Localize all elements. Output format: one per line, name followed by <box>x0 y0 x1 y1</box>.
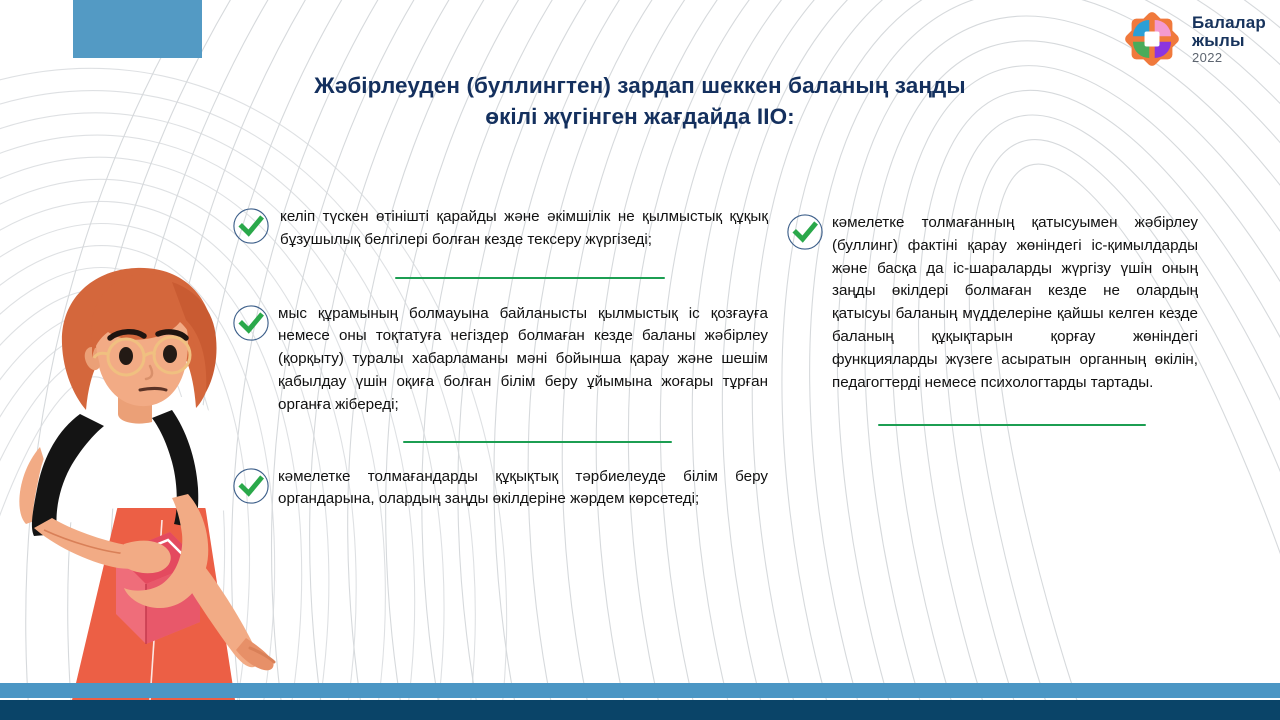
bullet-text: мыс құрамының болмауына байланысты қылмы… <box>278 303 768 417</box>
bullet-item: кәмелетке толмағандарды құқықтық тәрбиел… <box>232 466 768 512</box>
logo-title-line2: жылы <box>1192 32 1266 49</box>
bullet-item: келіп түскен өтінішті қарайды және әкімш… <box>232 206 768 252</box>
title-line-1: Жәбірлеуден (буллингтен) зардап шеккен б… <box>240 70 1040 101</box>
check-icon-wrap <box>232 206 278 245</box>
title-line-2: өкілі жүгінген жағдайда IIO: <box>240 101 1040 132</box>
green-check-icon <box>786 213 824 251</box>
schoolgirl-illustration <box>0 262 300 702</box>
bottom-accent-bar-dark <box>0 700 1280 720</box>
slide-canvas: Балалар жылы 2022 Жәбірлеуден (буллингте… <box>0 0 1280 720</box>
bullet-text: кәмелетке толмағанның қатысуымен жәбірле… <box>832 212 1198 394</box>
logo-year: 2022 <box>1192 51 1266 64</box>
top-left-blue-block <box>73 0 202 58</box>
bullet-text: келіп түскен өтінішті қарайды және әкімш… <box>278 206 768 252</box>
check-icon-wrap <box>786 212 832 251</box>
section-divider <box>403 441 672 443</box>
slide-title: Жәбірлеуден (буллингтен) зардап шеккен б… <box>240 70 1040 132</box>
balalar-zhyly-logo: Балалар жылы 2022 <box>1118 4 1278 74</box>
bullet-text: кәмелетке толмағандарды құқықтық тәрбиел… <box>278 466 768 512</box>
section-divider <box>395 277 665 279</box>
logo-title-line1: Балалар <box>1192 14 1266 31</box>
left-bullet-column: келіп түскен өтінішті қарайды және әкімш… <box>232 206 768 511</box>
bullet-item: мыс құрамының болмауына байланысты қылмы… <box>232 303 768 417</box>
bottom-accent-bar-light <box>0 683 1280 698</box>
section-divider <box>878 424 1146 426</box>
bullet-item: кәмелетке толмағанның қатысуымен жәбірле… <box>786 212 1198 394</box>
green-check-icon <box>232 207 270 245</box>
right-bullet-column: кәмелетке толмағанның қатысуымен жәбірле… <box>786 212 1198 426</box>
flower-logo-icon <box>1118 5 1186 73</box>
